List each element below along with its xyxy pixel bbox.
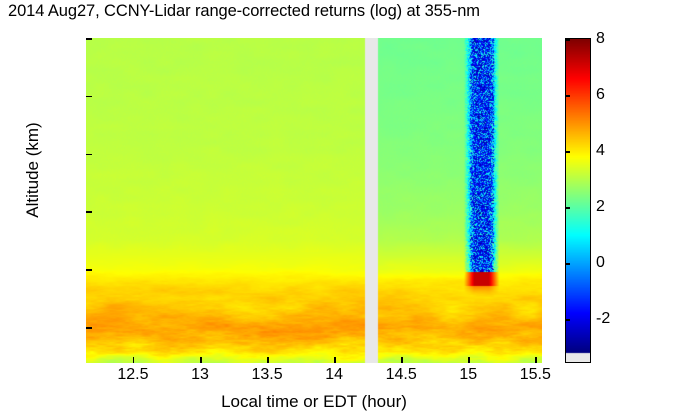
colorbar-tick-label: 0 xyxy=(596,254,636,272)
colorbar-tick-mark xyxy=(565,95,570,97)
x-tick-label: 12.5 xyxy=(103,366,163,384)
x-tick-mark xyxy=(468,357,470,363)
colorbar-tick-label: 8 xyxy=(596,30,636,48)
x-tick-label: 15.5 xyxy=(505,366,565,384)
lidar-heatmap-canvas xyxy=(86,38,542,363)
x-tick-mark xyxy=(401,357,403,363)
y-tick-mark xyxy=(86,327,92,329)
colorbar-tick-mark xyxy=(565,39,570,41)
y-tick-mark xyxy=(86,211,92,213)
x-tick-label: 14 xyxy=(304,366,364,384)
x-tick-mark xyxy=(133,357,135,363)
x-tick-mark xyxy=(200,357,202,363)
colorbar-tick-label: -2 xyxy=(596,310,636,328)
heatmap-plot-area xyxy=(86,38,542,363)
colorbar-tick-mark xyxy=(565,207,570,209)
colorbar-tick-mark xyxy=(565,151,570,153)
x-tick-label: 14.5 xyxy=(371,366,431,384)
y-axis-label: Altitude (km) xyxy=(23,55,43,285)
colorbar-tick-mark xyxy=(565,319,570,321)
y-tick-mark xyxy=(86,154,92,156)
y-tick-mark xyxy=(86,38,92,40)
y-tick-mark xyxy=(86,96,92,98)
x-tick-mark xyxy=(535,357,537,363)
colorbar-gradient xyxy=(566,39,590,362)
x-axis-label: Local time or EDT (hour) xyxy=(86,392,542,412)
page-title: 2014 Aug27, CCNY-Lidar range-corrected r… xyxy=(8,2,668,21)
lidar-figure: 2014 Aug27, CCNY-Lidar range-corrected r… xyxy=(0,0,676,420)
x-tick-label: 13.5 xyxy=(237,366,297,384)
colorbar-tick-label: 6 xyxy=(596,86,636,104)
x-tick-label: 13 xyxy=(170,366,230,384)
x-tick-mark xyxy=(334,357,336,363)
colorbar-tick-mark xyxy=(565,263,570,265)
colorbar-tick-label: 4 xyxy=(596,142,636,160)
colorbar-tick-label: 2 xyxy=(596,198,636,216)
x-tick-mark xyxy=(267,357,269,363)
y-tick-mark xyxy=(86,269,92,271)
colorbar xyxy=(565,38,591,363)
x-tick-label: 15 xyxy=(438,366,498,384)
